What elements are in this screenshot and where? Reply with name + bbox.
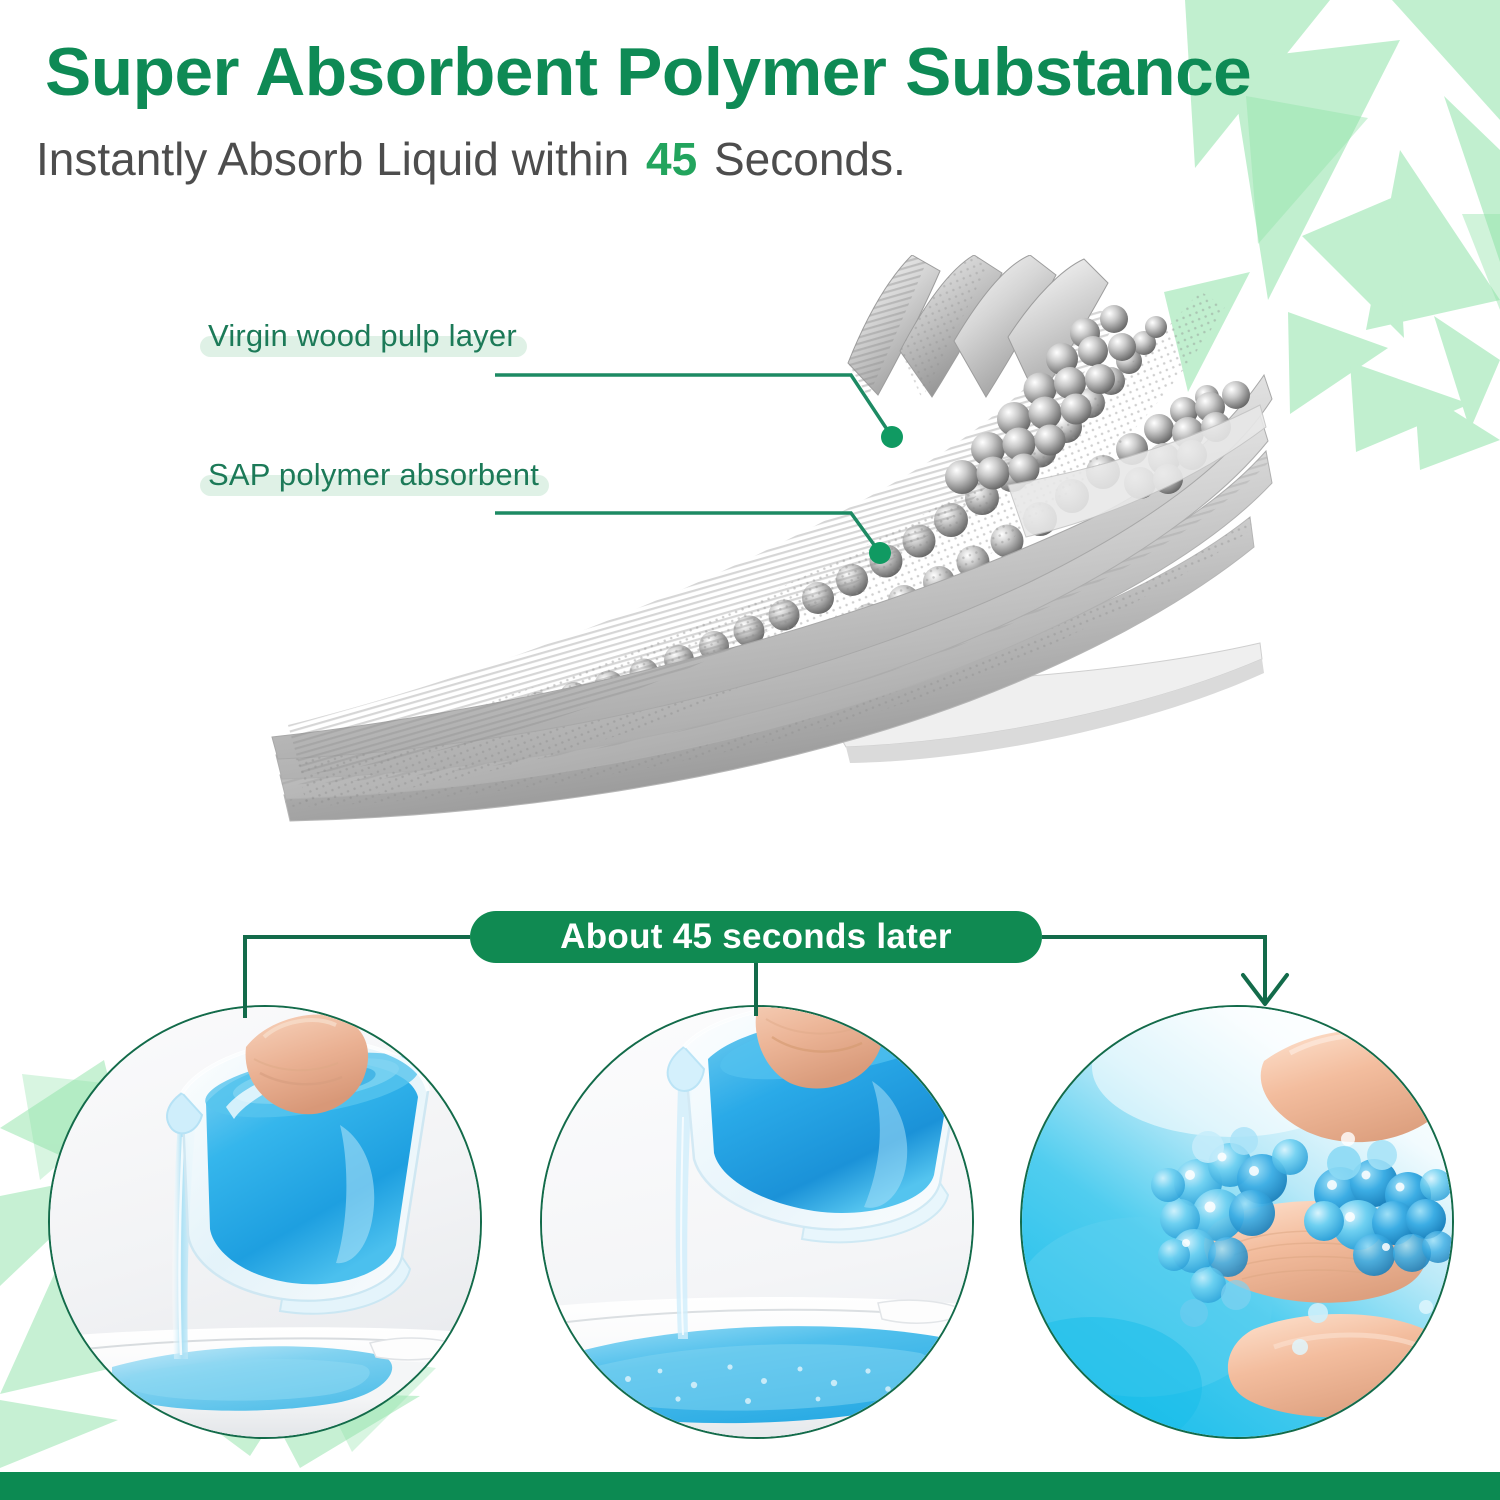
page-subtitle: Instantly Absorb Liquid within 45 Second… (36, 132, 906, 186)
subtitle-text-before: Instantly Absorb Liquid within (36, 133, 629, 185)
infographic-page: Super Absorbent Polymer Substance Instan… (0, 0, 1500, 1500)
gel-crystals-illustration (1022, 1007, 1452, 1437)
page-title: Super Absorbent Polymer Substance (45, 36, 1493, 108)
callout-sap-polymer: SAP polymer absorbent (200, 455, 549, 497)
step-circle-gel-crystals (1020, 1005, 1454, 1439)
bottom-accent-bar (0, 1472, 1500, 1500)
timing-banner: About 45 seconds later (470, 911, 1042, 963)
callout-label: Virgin wood pulp layer (200, 316, 527, 358)
step-circle-absorbing (540, 1005, 974, 1439)
subtitle-text-after: Seconds. (714, 133, 906, 185)
down-arrow-icon (1243, 975, 1287, 1004)
callout-virgin-wood-pulp: Virgin wood pulp layer (200, 316, 527, 358)
step-circle-pouring (48, 1005, 482, 1439)
subtitle-highlight-number: 45 (642, 133, 701, 185)
pouring-liquid-illustration (50, 1007, 480, 1437)
timing-banner-label: About 45 seconds later (560, 917, 952, 957)
liquid-absorbing-illustration (542, 1007, 972, 1437)
callout-label: SAP polymer absorbent (200, 455, 549, 497)
